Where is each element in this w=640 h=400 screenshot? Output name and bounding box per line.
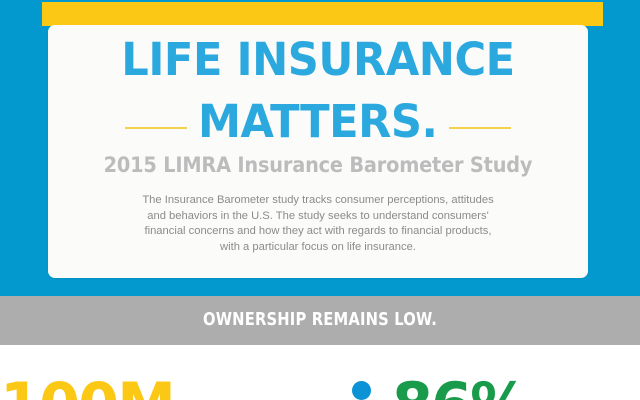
- title-rule-left-icon: [125, 127, 187, 129]
- description-line: The Insurance Barometer study tracks con…: [96, 193, 540, 209]
- stat-value-left: 100M: [0, 375, 285, 400]
- stat-value-right: 86%: [392, 375, 620, 400]
- yellow-accent-bar: [42, 2, 603, 26]
- infographic-page: LIFE INSURANCE MATTERS. 2015 LIMRA Insur…: [0, 0, 640, 400]
- description-line: and behaviors in the U.S. The study seek…: [96, 209, 540, 225]
- section-banner: OWNERSHIP REMAINS LOW.: [0, 296, 640, 345]
- description-line: financial concerns and how they act with…: [96, 224, 540, 240]
- hero-card-content: LIFE INSURANCE MATTERS. 2015 LIMRA Insur…: [48, 25, 588, 278]
- section-banner-title: OWNERSHIP REMAINS LOW.: [58, 309, 583, 330]
- page-title-line-1: LIFE INSURANCE: [59, 39, 577, 80]
- person-icon: [352, 381, 371, 400]
- description-line: with a particular focus on life insuranc…: [96, 240, 540, 256]
- hero-card: LIFE INSURANCE MATTERS. 2015 LIMRA Insur…: [48, 25, 588, 278]
- title-rule-right-icon: [449, 127, 511, 129]
- study-description: The Insurance Barometer study tracks con…: [96, 193, 540, 255]
- page-title-line-2: MATTERS.: [198, 95, 437, 148]
- page-title-line-2-row: MATTERS.: [48, 97, 588, 145]
- study-subtitle: 2015 LIMRA Insurance Barometer Study: [70, 153, 567, 177]
- stats-strip: 100M 86%: [0, 345, 640, 400]
